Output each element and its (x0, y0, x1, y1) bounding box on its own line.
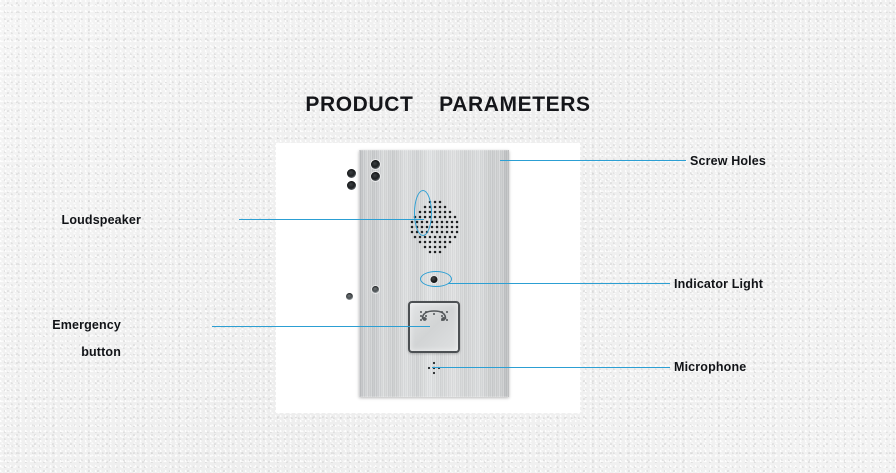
loudspeaker-highlight-ring (414, 190, 432, 236)
leader-line-indicator-light (448, 283, 670, 284)
page-title: PRODUCT PARAMETERS (0, 93, 896, 117)
screw-hole-icon (346, 293, 353, 300)
leader-line-microphone (432, 367, 670, 368)
callout-label-emergency-button-line1: Emergency (52, 318, 121, 332)
microphone-holes-icon (427, 361, 441, 375)
braille-dots-icon (418, 310, 450, 322)
screw-hole-icon (371, 160, 380, 169)
screw-hole-icon (371, 172, 380, 181)
page-background: PRODUCT PARAMETERS (0, 0, 896, 473)
screw-hole-icon (347, 169, 356, 178)
callout-label-emergency-button-line2: button (52, 345, 121, 359)
callout-label-microphone: Microphone (674, 360, 746, 374)
screw-hole-icon (347, 181, 356, 190)
leader-line-screw-holes (500, 160, 686, 161)
leader-line-loudspeaker (239, 219, 424, 220)
callout-label-screw-holes: Screw Holes (690, 154, 766, 168)
callout-label-emergency-button: Emergency button (52, 318, 121, 359)
screw-hole-icon (372, 286, 379, 293)
callout-label-indicator-light: Indicator Light (674, 277, 763, 291)
emergency-call-button[interactable] (408, 301, 460, 353)
indicator-light-highlight-ring (420, 271, 452, 287)
callout-label-loudspeaker: Loudspeaker (62, 213, 141, 227)
leader-line-emergency-button (212, 326, 430, 327)
